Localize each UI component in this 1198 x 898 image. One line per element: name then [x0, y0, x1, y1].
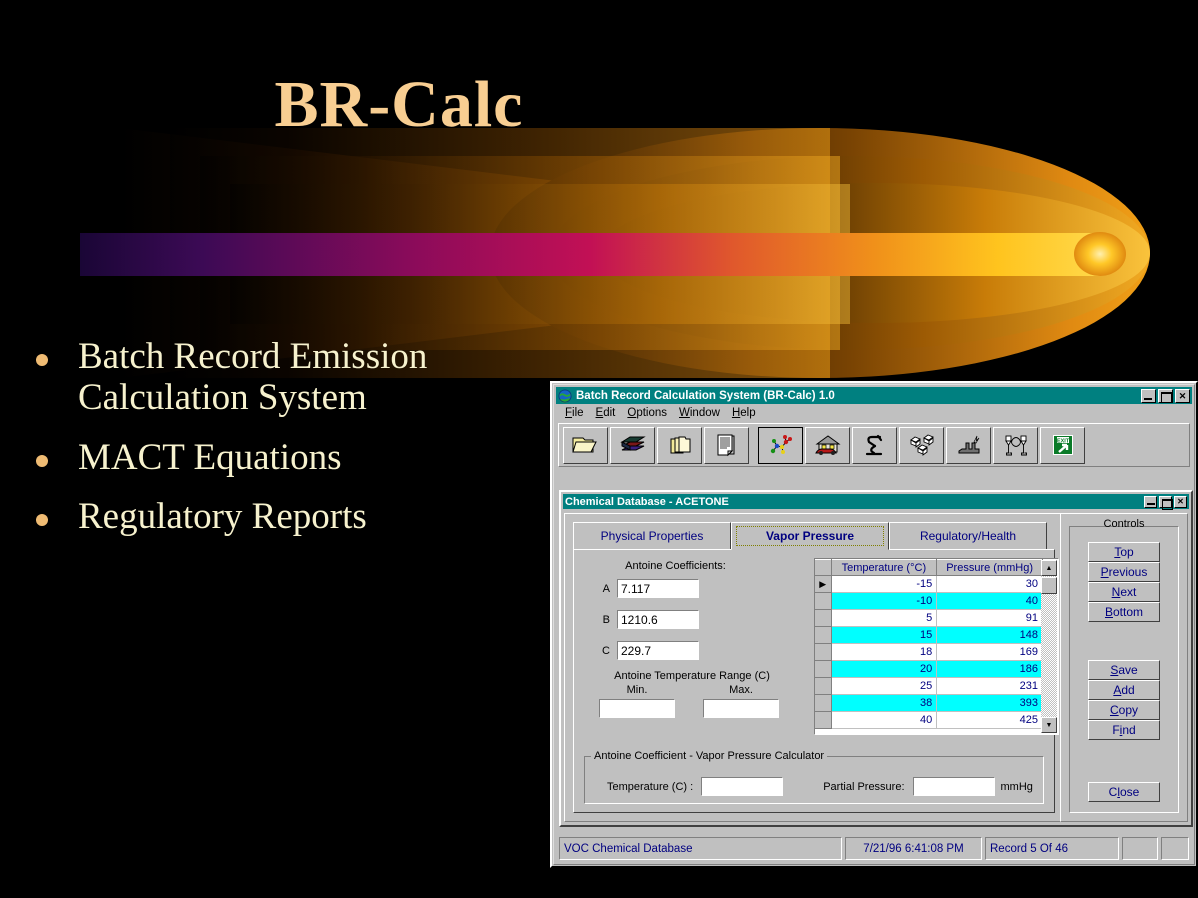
application-window: Batch Record Calculation System (BR-Calc… [550, 381, 1198, 868]
copy-button[interactable]: Copy [1088, 700, 1160, 720]
range-min-input[interactable] [599, 699, 675, 718]
house-car-icon-button[interactable] [805, 427, 850, 464]
status-panel-4 [1122, 837, 1158, 860]
bullet-list: Batch Record Emission Calculation System… [22, 336, 532, 556]
tab-regulatory-health[interactable]: Regulatory/Health [889, 522, 1047, 550]
microscope-icon [860, 433, 890, 457]
tab-vapor-pressure[interactable]: Vapor Pressure [731, 522, 889, 550]
open-folder-icon [571, 433, 601, 457]
document-icon [712, 433, 742, 457]
grid-vertical-scrollbar[interactable]: ▲ ▼ [1041, 560, 1057, 733]
grid-cell-pressure[interactable]: 231 [937, 678, 1043, 695]
grid-cell-pressure[interactable]: 393 [937, 695, 1043, 712]
grid-cell-temperature[interactable]: -10 [831, 593, 937, 610]
grid-cell-temperature[interactable]: 38 [831, 695, 937, 712]
focus-ring [736, 526, 884, 546]
main-titlebar: Batch Record Calculation System (BR-Calc… [556, 387, 1192, 404]
child-maximize-button[interactable] [1159, 496, 1172, 508]
next-button[interactable]: Next [1088, 582, 1160, 602]
molecule-icon-button[interactable] [758, 427, 803, 464]
statusbar: VOC Chemical Database 7/21/96 6:41:08 PM… [559, 837, 1189, 860]
lab-apparatus-icon-button[interactable] [993, 427, 1038, 464]
main-window-buttons: ✕ [1141, 389, 1190, 403]
coefficient-c-label: C [588, 645, 610, 657]
document-icon-button[interactable] [704, 427, 749, 464]
close-record-button[interactable]: Close [1088, 782, 1160, 802]
grid-cell-pressure[interactable]: 186 [937, 661, 1043, 678]
list-item: MACT Equations [22, 437, 532, 478]
grid-cell-temperature[interactable]: 5 [831, 610, 937, 627]
menu-edit[interactable]: Edit [591, 407, 621, 419]
scroll-thumb[interactable] [1041, 577, 1057, 594]
grid-row-selector[interactable] [815, 678, 831, 695]
calc-units-label: mmHg [1001, 781, 1033, 793]
child-title-text: Chemical Database - ACETONE [565, 496, 1144, 508]
vapor-pressure-grid[interactable]: Temperature (°C) Pressure (mmHg) ▶-1530-… [814, 558, 1059, 735]
controls-legend: Controls [1061, 518, 1187, 530]
range-max-label: Max. [686, 684, 796, 696]
coefficient-a-label: A [588, 583, 610, 595]
grid-row-selector[interactable] [815, 610, 831, 627]
grid-cell-pressure[interactable]: 30 [937, 576, 1043, 593]
tab-content-vapor-pressure: Antoine Coefficients: A 7.117 B 1210.6 C… [573, 549, 1055, 813]
grid-row[interactable]: 591 [815, 610, 1043, 627]
bullet-dot-icon [36, 514, 48, 526]
calc-pressure-label: Partial Pressure: [823, 781, 904, 793]
grid-row[interactable]: 20186 [815, 661, 1043, 678]
calc-pressure-input[interactable] [913, 777, 995, 796]
grid-row-selector[interactable] [815, 627, 831, 644]
menu-options[interactable]: Options [622, 407, 672, 419]
house-car-icon [813, 433, 843, 457]
grid-row[interactable]: -1040 [815, 593, 1043, 610]
grid-row[interactable]: ▶-1530 [815, 576, 1043, 593]
books-icon-button[interactable] [610, 427, 655, 464]
list-item: Batch Record Emission Calculation System [22, 336, 532, 419]
grid-row-selector[interactable] [815, 593, 831, 610]
calculator-groupbox: Antoine Coefficient - Vapor Pressure Cal… [584, 756, 1044, 804]
maximize-button[interactable] [1158, 389, 1173, 403]
grid-row-selector[interactable]: ▶ [815, 576, 831, 593]
bullet-text: MACT Equations [78, 437, 341, 478]
open-folder-icon-button[interactable] [563, 427, 608, 464]
grid-cell-pressure[interactable]: 40 [937, 593, 1043, 610]
coefficient-b-input[interactable]: 1210.6 [617, 610, 699, 629]
calc-temperature-input[interactable] [701, 777, 783, 796]
grid-body: ▶-1530-104059115148181692018625231383934… [815, 576, 1043, 729]
svg-text:EXIT: EXIT [1057, 438, 1070, 444]
grid-row[interactable]: 40425 [815, 712, 1043, 729]
child-window-body: Physical Properties Vapor Pressure Regul… [564, 513, 1188, 822]
bullet-dot-icon [36, 354, 48, 366]
molecule-icon [766, 433, 796, 457]
coefficient-a-input[interactable]: 7.117 [617, 579, 699, 598]
scroll-down-button[interactable]: ▼ [1041, 717, 1057, 733]
factory-icon-button[interactable] [946, 427, 991, 464]
calculator-title: Antoine Coefficient - Vapor Pressure Cal… [591, 750, 827, 762]
grid-cell-temperature[interactable]: 20 [831, 661, 937, 678]
grid-row[interactable]: 25231 [815, 678, 1043, 695]
boxes-icon-button[interactable] [899, 427, 944, 464]
status-record-count: Record 5 Of 46 [985, 837, 1119, 860]
grid-row-selector[interactable] [815, 695, 831, 712]
tab-strip: Physical Properties Vapor Pressure Regul… [573, 522, 1055, 550]
lab-apparatus-icon [1001, 433, 1031, 457]
coefficient-b-label: B [588, 614, 610, 626]
grid-cell-pressure[interactable]: 91 [937, 610, 1043, 627]
main-title-text: Batch Record Calculation System (BR-Calc… [576, 390, 1141, 402]
tab-physical-properties[interactable]: Physical Properties [573, 522, 731, 550]
current-row-marker-icon: ▶ [819, 579, 826, 589]
child-window-buttons: ✕ [1144, 496, 1187, 508]
find-button[interactable]: Find [1088, 720, 1160, 740]
grid-row-selector[interactable] [815, 644, 831, 661]
add-button[interactable]: Add [1088, 680, 1160, 700]
list-item: Regulatory Reports [22, 496, 532, 537]
child-minimize-button[interactable] [1144, 496, 1157, 508]
tab-panel: Physical Properties Vapor Pressure Regul… [564, 513, 1064, 822]
grid-cell-temperature[interactable]: 18 [831, 644, 937, 661]
antoine-range-label: Antoine Temperature Range (C) [588, 670, 796, 682]
child-window-chemical-database: Chemical Database - ACETONE ✕ Physical P… [559, 490, 1193, 827]
tab-label: Regulatory/Health [920, 529, 1016, 543]
top-button[interactable]: Top [1088, 542, 1160, 562]
boxes-icon [907, 433, 937, 457]
grid-row[interactable]: 18169 [815, 644, 1043, 661]
controls-panel: Controls Top Previous Next Bottom Save A… [1060, 513, 1188, 822]
globe-icon [558, 389, 572, 403]
child-titlebar: Chemical Database - ACETONE ✕ [563, 494, 1189, 509]
grid-corner-header [815, 560, 831, 576]
grid-cell-pressure[interactable]: 169 [937, 644, 1043, 661]
grid-header-pressure[interactable]: Pressure (mmHg) [937, 560, 1043, 576]
grid-row[interactable]: 38393 [815, 695, 1043, 712]
toolbar: EXIT [558, 423, 1190, 467]
status-timestamp: 7/21/96 6:41:08 PM [845, 837, 982, 860]
status-database: VOC Chemical Database [559, 837, 842, 860]
coefficient-c-input[interactable]: 229.7 [617, 641, 699, 660]
child-close-button[interactable]: ✕ [1174, 496, 1187, 508]
menu-help[interactable]: Help [727, 407, 761, 419]
grid-row-selector[interactable] [815, 661, 831, 678]
minimize-button[interactable] [1141, 389, 1156, 403]
status-panel-5 [1161, 837, 1189, 860]
close-button[interactable]: ✕ [1175, 389, 1190, 403]
scroll-up-button[interactable]: ▲ [1041, 560, 1057, 576]
save-button[interactable]: Save [1088, 660, 1160, 680]
previous-button[interactable]: Previous [1088, 562, 1160, 582]
page-title: BR-Calc [0, 72, 1198, 138]
grid-header-temperature[interactable]: Temperature (°C) [831, 560, 937, 576]
grid-cell-temperature[interactable]: -15 [831, 576, 937, 593]
antoine-coefficients-label: Antoine Coefficients: [588, 560, 763, 572]
tab-label: Physical Properties [601, 529, 704, 543]
grid-row[interactable]: 15148 [815, 627, 1043, 644]
range-min-label: Min. [588, 684, 686, 696]
calc-temperature-label: Temperature (C) : [607, 781, 693, 793]
menubar: File Edit Options Window Help [554, 404, 1194, 421]
bullet-dot-icon [36, 455, 48, 467]
bullet-text: Batch Record Emission Calculation System [78, 336, 532, 419]
grid-header-row: Temperature (°C) Pressure (mmHg) [815, 560, 1043, 576]
menu-file[interactable]: File [560, 407, 589, 419]
card-files-icon [665, 433, 695, 457]
grid-cell-pressure[interactable]: 148 [937, 627, 1043, 644]
grid-row-selector[interactable] [815, 712, 831, 729]
exit-sign-icon: EXIT [1048, 433, 1078, 457]
microscope-icon-button[interactable] [852, 427, 897, 464]
grid-table: Temperature (°C) Pressure (mmHg) ▶-1530-… [815, 559, 1043, 729]
exit-sign-icon-button[interactable]: EXIT [1040, 427, 1085, 464]
bullet-text: Regulatory Reports [78, 496, 367, 537]
books-icon [618, 433, 648, 457]
grid-cell-pressure[interactable]: 425 [937, 712, 1043, 729]
grid-cell-temperature[interactable]: 15 [831, 627, 937, 644]
grid-cell-temperature[interactable]: 25 [831, 678, 937, 695]
factory-icon [954, 433, 984, 457]
grid-cell-temperature[interactable]: 40 [831, 712, 937, 729]
menu-window[interactable]: Window [674, 407, 725, 419]
bottom-button[interactable]: Bottom [1088, 602, 1160, 622]
application-window-inner: Batch Record Calculation System (BR-Calc… [553, 384, 1195, 865]
card-files-icon-button[interactable] [657, 427, 702, 464]
range-max-input[interactable] [703, 699, 779, 718]
